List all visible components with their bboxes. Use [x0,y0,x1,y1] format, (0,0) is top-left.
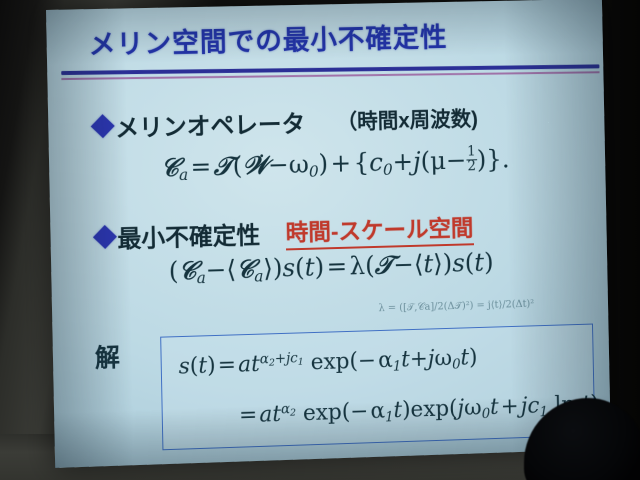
bullet-item-mellin-operator: メリンオペレータ （時間x周波数) [94,100,478,144]
diamond-bullet-icon-2 [93,225,117,249]
solution-label: 解 [95,338,121,375]
bullet-label-2: 最小不確定性 [117,215,260,254]
bullet-item-min-uncertainty: 最小不確定性 時間-スケール空間 [96,209,474,256]
solution-box [160,324,595,451]
equation-lambda-note: λ = ([𝒯,𝒞a]/2(Δ𝒯)²) = j⟨t⟩/2(Δt)² [378,299,534,314]
presentation-photo: メリン空間での最小不確定性 メリンオペレータ （時間x周波数) 𝒞a = 𝒯(𝒲… [0,0,640,480]
slide-content: メリン空間での最小不確定性 メリンオペレータ （時間x周波数) 𝒞a = 𝒯(𝒲… [46,0,611,468]
bullet-label-1: メリンオペレータ [115,104,306,143]
equation-mellin-operator: 𝒞a = 𝒯(𝒲̇−ω0) + {c0+j(μ−12)}. [160,145,509,185]
projection-screen: メリン空間での最小不確定性 メリンオペレータ （時間x周波数) 𝒞a = 𝒯(𝒲… [46,0,611,468]
bullet-note-1: （時間x周波数) [336,102,478,135]
diamond-bullet-icon [91,114,115,138]
slide-title: メリン空間での最小不確定性 [88,13,580,62]
equation-min-uncertainty: (𝒞a−⟨𝒞a⟩)s(t) = λ(𝒯−⟨t⟩)s(t) [168,248,493,288]
highlight-time-scale-space: 時間-スケール空間 [285,209,473,251]
